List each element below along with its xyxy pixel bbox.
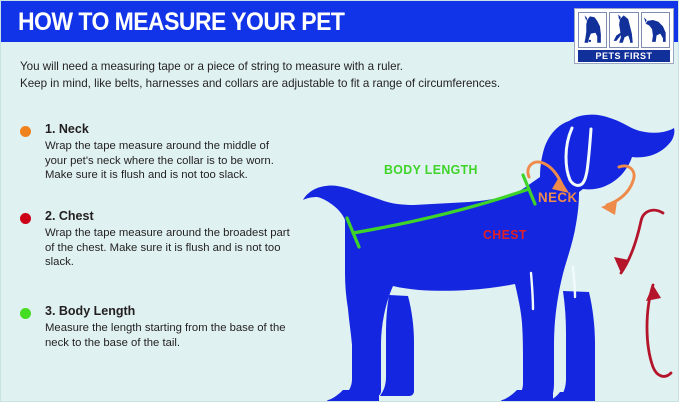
step-neck: 1. Neck Wrap the tape measure around the… (20, 122, 292, 183)
step-body-length: 3. Body Length Measure the length starti… (20, 304, 292, 350)
chest-arrowheads (614, 257, 661, 301)
intro-line-1: You will need a measuring tape or a piec… (20, 58, 620, 75)
logo-icon-boxes (578, 12, 670, 48)
intro-text: You will need a measuring tape or a piec… (20, 58, 620, 92)
intro-line-2: Keep in mind, like belts, harnesses and … (20, 75, 620, 92)
dog-sitting-alt-icon (641, 12, 670, 48)
dog-standing-icon (609, 12, 638, 48)
step-chest-body: Wrap the tape measure around the broades… (45, 226, 292, 270)
how-to-measure-your-pet-infographic: HOW TO MEASURE YOUR PET PETS FIRST (0, 0, 679, 402)
label-neck: NECK (538, 189, 578, 205)
step-chest-title: 2. Chest (45, 209, 292, 224)
bullet-chest-icon (20, 213, 31, 224)
step-neck-body: Wrap the tape measure around the middle … (45, 139, 292, 183)
step-chest: 2. Chest Wrap the tape measure around th… (20, 209, 292, 270)
label-chest: CHEST (483, 227, 527, 242)
label-body-length: BODY LENGTH (384, 162, 478, 177)
chest-measure-arrow (621, 210, 671, 376)
page-title: HOW TO MEASURE YOUR PET (18, 8, 344, 37)
bullet-body-length-icon (20, 308, 31, 319)
step-neck-title: 1. Neck (45, 122, 292, 137)
dog-sitting-icon (578, 12, 607, 48)
pets-first-logo: PETS FIRST (574, 8, 674, 64)
dog-measurement-diagram (301, 105, 679, 402)
step-body-length-body: Measure the length starting from the bas… (45, 321, 292, 350)
step-body-length-title: 3. Body Length (45, 304, 292, 319)
bullet-neck-icon (20, 126, 31, 137)
